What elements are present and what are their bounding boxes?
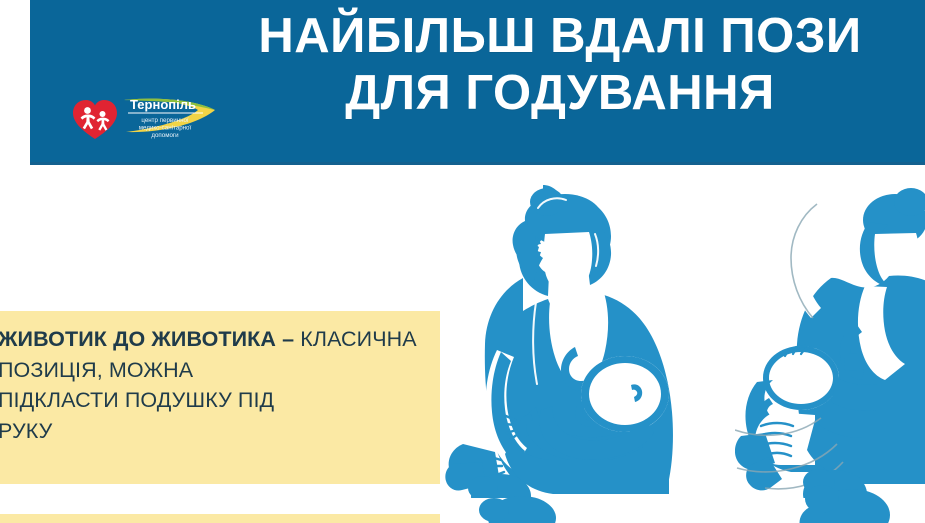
illustration-peek-bottom-left xyxy=(470,492,560,523)
callout-strip-next xyxy=(0,514,440,523)
illustration-cradle-hold xyxy=(435,182,703,498)
heart-icon xyxy=(73,100,117,139)
logo[interactable]: Тернопіль центр первинної медико-санітар… xyxy=(70,88,222,146)
header-band: НАЙБІЛЬШ ВДАЛІ ПОЗИ ДЛЯ ГОДУВАННЯ xyxy=(30,0,925,165)
logo-wordmark: Тернопіль xyxy=(130,97,196,112)
logo-subtitle-1: центр первинної xyxy=(141,117,189,124)
logo-subtitle-3: допомоги xyxy=(151,132,179,139)
logo-subtitle-2: медико-санітарної xyxy=(139,125,192,132)
illustration-reclined-hold xyxy=(735,182,925,498)
slide-canvas: НАЙБІЛЬШ ВДАЛІ ПОЗИ ДЛЯ ГОДУВАННЯ xyxy=(0,0,925,523)
callout-box: ЖИВОТИК ДО ЖИВОТИКА – КЛАСИЧНА ПОЗИЦІЯ, … xyxy=(0,311,440,484)
illustration-peek-bottom-right xyxy=(790,485,900,523)
callout-text: ЖИВОТИК ДО ЖИВОТИКА – КЛАСИЧНА ПОЗИЦІЯ, … xyxy=(0,324,426,446)
page-title: НАЙБІЛЬШ ВДАЛІ ПОЗИ ДЛЯ ГОДУВАННЯ xyxy=(180,8,925,122)
callout-lead: ЖИВОТИК ДО ЖИВОТИКА – xyxy=(0,327,294,351)
